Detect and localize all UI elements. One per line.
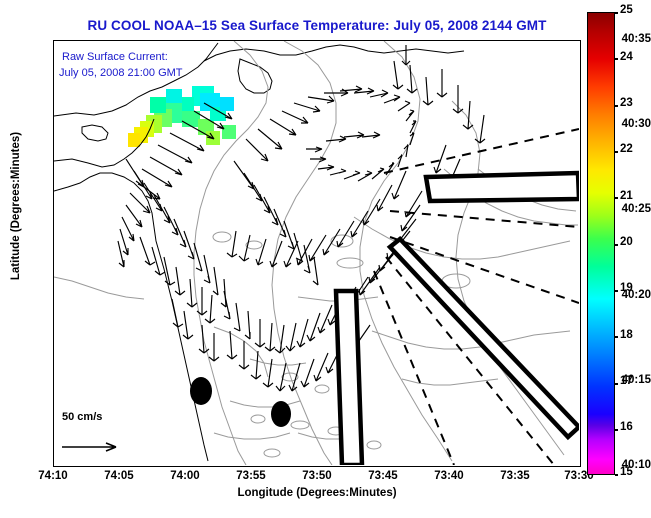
colorbar-tick-label: 19 [620, 282, 633, 294]
x-axis-label: Longitude (Degrees:Minutes) [53, 487, 581, 499]
colorbar-tick-label: 25 [620, 4, 633, 16]
colorbar-tick-label: 16 [620, 421, 633, 433]
colorbar-tick-label: 24 [620, 51, 633, 63]
scale-bar-label: 50 cm/s [62, 411, 102, 423]
colorbar-gradient [587, 12, 615, 475]
x-tick-label: 74:05 [92, 470, 146, 482]
colorbar-tick-label: 15 [620, 466, 633, 478]
figure-title: RU COOL NOAA–15 Sea Surface Temperature:… [53, 18, 581, 33]
station-markers [190, 377, 291, 427]
colorbar-tick-label: 22 [620, 143, 633, 155]
x-tick-label: 74:00 [158, 470, 212, 482]
x-tick-label: 73:55 [224, 470, 278, 482]
colorbar-tick-label: 23 [620, 97, 633, 109]
annotation-line-1: Raw Surface Current: [62, 50, 168, 65]
map-canvas [54, 41, 579, 465]
bathymetry-contours [54, 41, 578, 465]
x-tick-label: 74:10 [26, 470, 80, 482]
x-tick-label: 73:50 [290, 470, 344, 482]
y-axis-label: Latitude (Degrees:Minutes) [10, 96, 22, 316]
x-tick-label: 73:45 [356, 470, 410, 482]
x-tick-label: 73:35 [488, 470, 542, 482]
colorbar-tick-label: 18 [620, 329, 633, 341]
sst-figure: RU COOL NOAA–15 Sea Surface Temperature:… [0, 0, 651, 518]
colorbar-tick-label: 17 [620, 375, 633, 387]
colorbar-tick-label: 21 [620, 190, 633, 202]
x-tick-label: 73:40 [422, 470, 476, 482]
colorbar-tick-label: 20 [620, 236, 633, 248]
annotation-line-2: July 05, 2008 21:00 GMT [59, 66, 183, 81]
sst-pixels [128, 86, 236, 147]
scale-bar [62, 443, 116, 451]
map-plot-area[interactable]: 50 cm/s [53, 40, 581, 467]
